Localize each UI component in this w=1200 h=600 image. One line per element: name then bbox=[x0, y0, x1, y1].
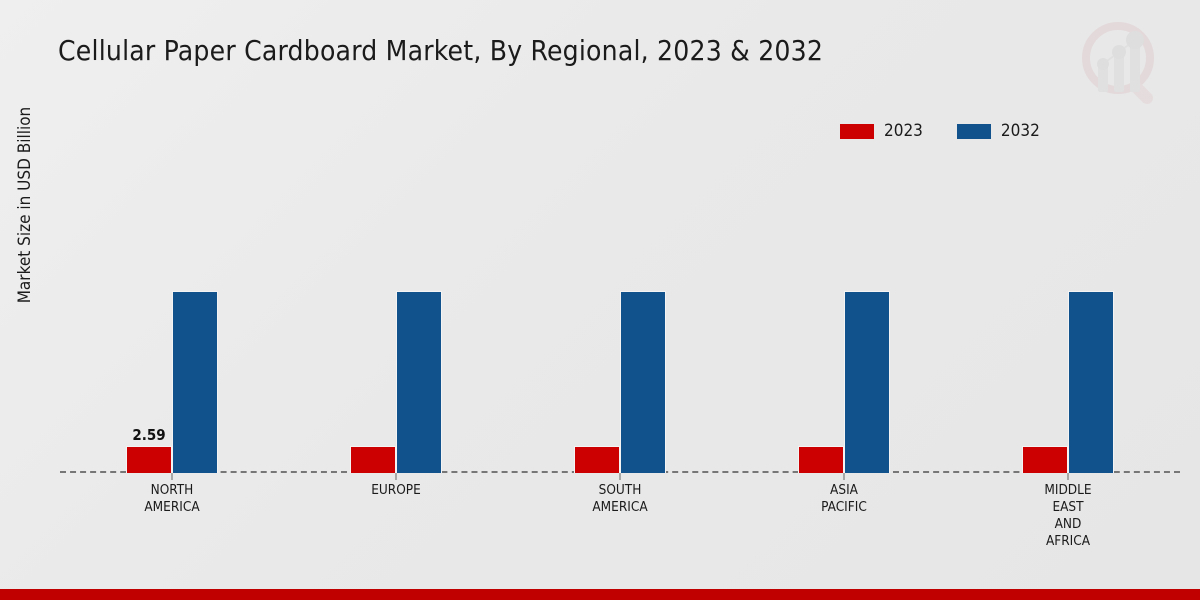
bar-value-label-north-america-2023: 2.59 bbox=[132, 426, 165, 444]
bar-pair bbox=[350, 150, 442, 473]
market-research-magnifier-logo-icon bbox=[1074, 14, 1174, 114]
chart-legend: 2023 2032 bbox=[840, 121, 1040, 141]
bar-2023-north-america[interactable]: 2.59 bbox=[126, 446, 172, 473]
bar-pair: 2.59 bbox=[126, 150, 218, 473]
bar-2032-europe[interactable] bbox=[396, 291, 442, 473]
bar-2023-south-america[interactable] bbox=[574, 446, 620, 473]
legend-swatch-2023 bbox=[840, 124, 874, 139]
bar-2032-north-america[interactable] bbox=[172, 291, 218, 473]
x-label-north-america: NORTH AMERICA bbox=[144, 482, 199, 516]
x-tick-europe bbox=[396, 473, 397, 480]
x-tick-asia-pacific bbox=[844, 473, 845, 480]
bar-2032-asia-pacific[interactable] bbox=[844, 291, 890, 473]
chart-figure: Cellular Paper Cardboard Market, By Regi… bbox=[0, 0, 1200, 600]
plot-area: 2.59 NORTH AMERICA EUROPE bbox=[60, 150, 1180, 473]
legend-item-2023[interactable]: 2023 bbox=[840, 121, 923, 141]
bar-pair bbox=[574, 150, 666, 473]
bar-pair bbox=[798, 150, 890, 473]
legend-item-2032[interactable]: 2032 bbox=[957, 121, 1040, 141]
x-tick-north-america bbox=[172, 473, 173, 480]
x-label-south-america: SOUTH AMERICA bbox=[592, 482, 647, 516]
x-tick-middle-east-and-africa bbox=[1068, 473, 1069, 480]
legend-label-2023: 2023 bbox=[884, 121, 923, 141]
bar-group-south-america: SOUTH AMERICA bbox=[508, 150, 732, 473]
bar-2032-south-america[interactable] bbox=[620, 291, 666, 473]
bar-group-asia-pacific: ASIA PACIFIC bbox=[732, 150, 956, 473]
bar-2032-middle-east-and-africa[interactable] bbox=[1068, 291, 1114, 473]
chart-title: Cellular Paper Cardboard Market, By Regi… bbox=[58, 34, 823, 67]
bar-pair bbox=[1022, 150, 1114, 473]
x-label-europe: EUROPE bbox=[371, 482, 421, 499]
bar-2023-middle-east-and-africa[interactable] bbox=[1022, 446, 1068, 473]
bar-groups: 2.59 NORTH AMERICA EUROPE bbox=[60, 150, 1180, 473]
x-label-asia-pacific: ASIA PACIFIC bbox=[821, 482, 867, 516]
legend-swatch-2032 bbox=[957, 124, 991, 139]
bottom-accent-strip bbox=[0, 589, 1200, 600]
bar-group-north-america: 2.59 NORTH AMERICA bbox=[60, 150, 284, 473]
x-label-middle-east-and-africa: MIDDLE EAST AND AFRICA bbox=[1044, 482, 1091, 550]
legend-label-2032: 2032 bbox=[1001, 121, 1040, 141]
bar-2023-asia-pacific[interactable] bbox=[798, 446, 844, 473]
bar-group-middle-east-and-africa: MIDDLE EAST AND AFRICA bbox=[956, 150, 1180, 473]
y-axis-title: Market Size in USD Billion bbox=[15, 45, 35, 365]
x-tick-south-america bbox=[620, 473, 621, 480]
bar-2023-europe[interactable] bbox=[350, 446, 396, 473]
bar-group-europe: EUROPE bbox=[284, 150, 508, 473]
